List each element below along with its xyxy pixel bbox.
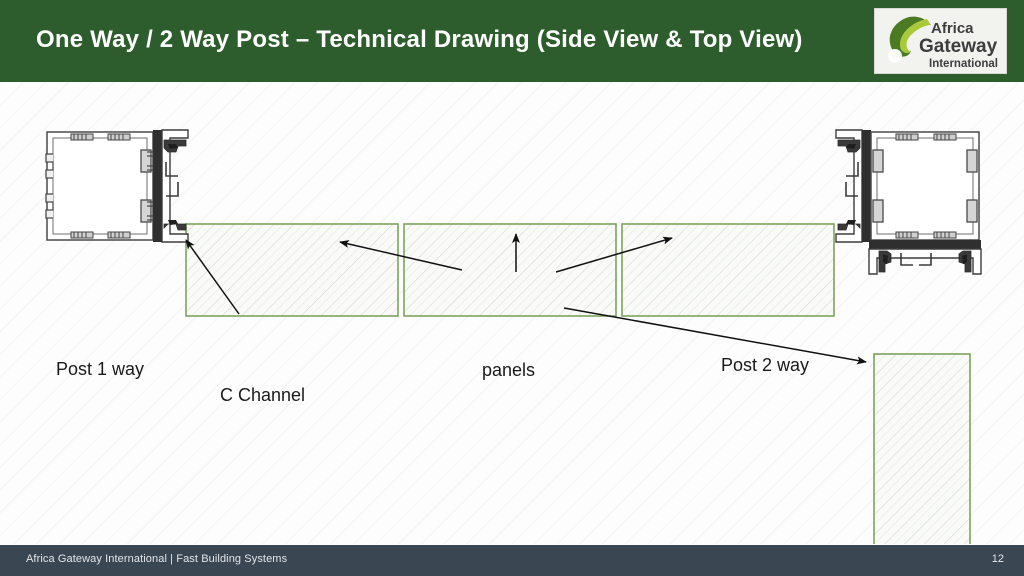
slide-header: One Way / 2 Way Post – Technical Drawing… <box>0 0 1024 82</box>
post-1-way-section <box>46 132 155 240</box>
logo-glow-core <box>892 53 899 60</box>
logo: Africa Gateway International <box>874 8 1007 74</box>
label-post-1-way: Post 1 way <box>56 359 144 380</box>
page-number: 12 <box>992 553 1004 565</box>
technical-drawing: Post 1 way C Channel panels Post 2 way <box>0 82 1024 544</box>
page-title: One Way / 2 Way Post – Technical Drawing… <box>36 26 803 54</box>
slide-footer: Africa Gateway International | Fast Buil… <box>0 545 1024 576</box>
horizontal-panel-1 <box>186 224 398 316</box>
horizontal-panel-3 <box>622 224 834 316</box>
c-channel-right-post-left <box>836 130 871 242</box>
logo-text-international: International <box>929 58 998 70</box>
label-post-2-way: Post 2 way <box>721 355 809 376</box>
footer-text: Africa Gateway International | Fast Buil… <box>26 553 287 565</box>
logo-svg: Africa Gateway International <box>875 9 1007 74</box>
label-c-channel: C Channel <box>220 385 305 406</box>
horizontal-panel-2 <box>404 224 616 316</box>
vertical-panel <box>874 354 970 544</box>
slide: One Way / 2 Way Post – Technical Drawing… <box>0 0 1024 576</box>
logo-text-gateway: Gateway <box>919 36 998 57</box>
c-channel-right-post-bottom <box>869 240 981 274</box>
label-panels: panels <box>482 360 535 381</box>
c-channel-left-post <box>153 130 188 242</box>
technical-drawing-svg <box>0 82 1024 544</box>
post-2-way-section <box>871 132 979 240</box>
logo-text-africa: Africa <box>931 20 974 37</box>
